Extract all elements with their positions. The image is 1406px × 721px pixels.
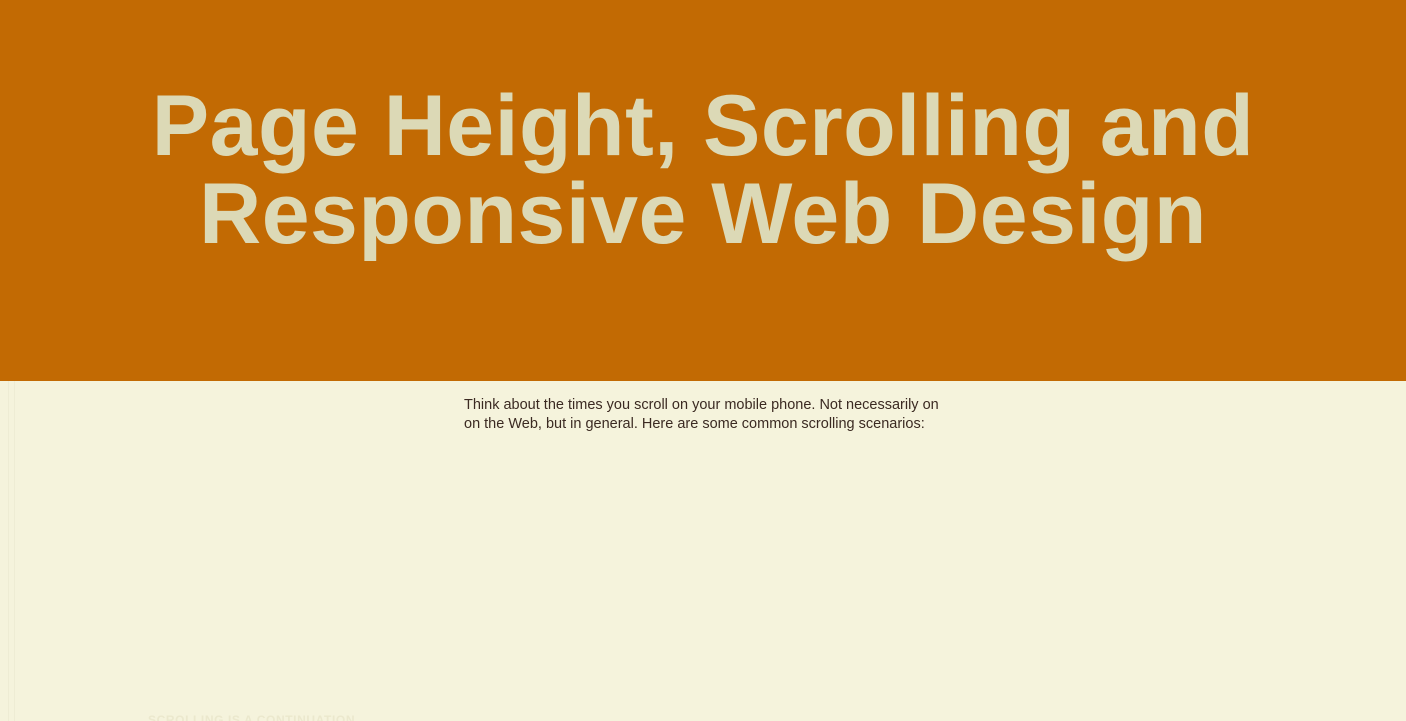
page-title-line1: Page Height, Scrolling and: [152, 78, 1255, 174]
intro-paragraph: Think about the times you scroll on your…: [464, 381, 940, 434]
article-column: Think about the times you scroll on your…: [464, 381, 944, 434]
page-root: Page Height, Scrolling and Responsive We…: [0, 0, 1406, 721]
page-title-line2: Responsive Web Design: [113, 170, 1293, 258]
left-rail-line-outer: [8, 381, 9, 721]
hero-header: Page Height, Scrolling and Responsive We…: [0, 0, 1406, 381]
content-area: Think about the times you scroll on your…: [0, 381, 1406, 721]
left-rail-line-inner: [14, 381, 15, 721]
footer-partial-text: SCROLLING IS A CONTINUATION: [148, 713, 355, 721]
hero-inner: Page Height, Scrolling and Responsive We…: [113, 0, 1293, 258]
page-title: Page Height, Scrolling and Responsive We…: [113, 82, 1293, 258]
